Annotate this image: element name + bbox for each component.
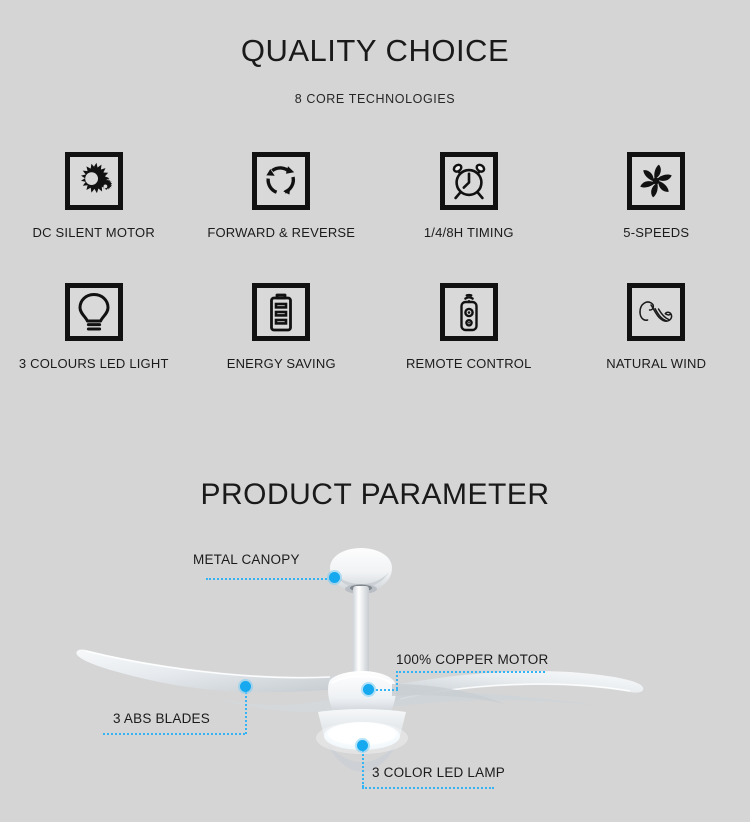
icon-frame xyxy=(440,152,498,210)
feature-remote-control: REMOTE CONTROL xyxy=(375,283,563,371)
remote-control-icon xyxy=(452,290,486,334)
product-parameter-title: PRODUCT PARAMETER xyxy=(0,478,750,512)
feature-speeds: 5-SPEEDS xyxy=(563,152,750,240)
leader-line-motor-top xyxy=(396,671,545,673)
feature-grid: DC SILENT MOTOR xyxy=(0,152,750,371)
fan-blades-icon xyxy=(636,161,676,201)
feature-label: REMOTE CONTROL xyxy=(406,356,532,371)
callout-dot-canopy xyxy=(329,572,340,583)
leader-line-canopy xyxy=(206,578,334,580)
circular-arrows-icon xyxy=(261,161,301,201)
callout-abs-blades: 3 ABS BLADES xyxy=(113,711,210,726)
callout-dot-motor xyxy=(363,684,374,695)
gear-icon xyxy=(73,160,115,202)
feature-dc-silent-motor: DC SILENT MOTOR xyxy=(0,152,188,240)
icon-frame xyxy=(627,283,685,341)
leader-line-blades-up xyxy=(245,692,247,734)
callout-dot-blades xyxy=(240,681,251,692)
icon-frame xyxy=(252,283,310,341)
infographic-page: QUALITY CHOICE 8 CORE TECHNOLOGIES DC SI… xyxy=(0,0,750,822)
leader-line-lamp-right xyxy=(362,787,494,789)
light-bulb-icon xyxy=(74,291,114,333)
wind-swirl-icon xyxy=(634,296,678,328)
icon-frame xyxy=(627,152,685,210)
leader-line-blades-bottom xyxy=(103,733,245,735)
feature-label: DC SILENT MOTOR xyxy=(33,225,155,240)
blade-left xyxy=(76,649,357,692)
leader-line-motor-in xyxy=(372,689,398,691)
callout-metal-canopy: METAL CANOPY xyxy=(193,552,300,567)
feature-energy-saving: ENERGY SAVING xyxy=(188,283,376,371)
feature-label: FORWARD & REVERSE xyxy=(207,225,355,240)
callout-dot-lamp xyxy=(357,740,368,751)
icon-frame xyxy=(252,152,310,210)
quality-choice-title: QUALITY CHOICE xyxy=(0,33,750,69)
leader-line-lamp-down xyxy=(362,747,364,787)
icon-frame xyxy=(65,152,123,210)
feature-label: 1/4/8H TIMING xyxy=(424,225,514,240)
callout-led-lamp: 3 COLOR LED LAMP xyxy=(372,765,505,780)
icon-frame xyxy=(65,283,123,341)
feature-led-light: 3 COLOURS LED LIGHT xyxy=(0,283,188,371)
feature-label: ENERGY SAVING xyxy=(227,356,336,371)
feature-label: 5-SPEEDS xyxy=(623,225,689,240)
feature-natural-wind: NATURAL WIND xyxy=(563,283,750,371)
battery-icon xyxy=(264,291,298,333)
feature-label: NATURAL WIND xyxy=(606,356,706,371)
feature-label: 3 COLOURS LED LIGHT xyxy=(19,356,169,371)
feature-timing: 1/4/8H TIMING xyxy=(375,152,563,240)
quality-choice-subtitle: 8 CORE TECHNOLOGIES xyxy=(0,92,750,106)
alarm-clock-icon xyxy=(448,160,490,202)
callout-copper-motor: 100% COPPER MOTOR xyxy=(396,652,548,667)
icon-frame xyxy=(440,283,498,341)
feature-forward-reverse: FORWARD & REVERSE xyxy=(188,152,376,240)
leader-line-motor-down xyxy=(396,671,398,689)
downrod-part xyxy=(351,586,371,684)
